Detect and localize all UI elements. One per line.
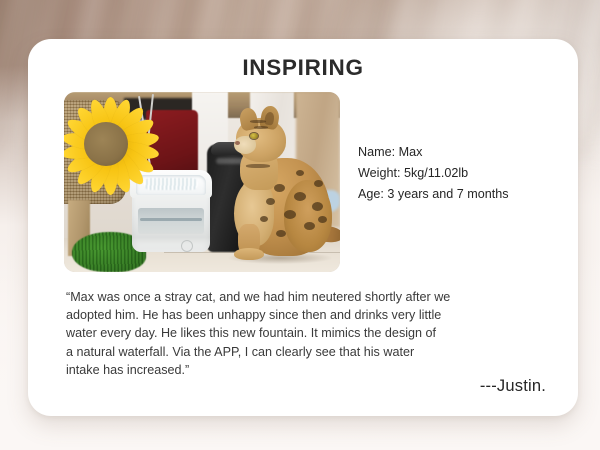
cat-forehead-stripe — [250, 120, 266, 123]
testimonial-signature: ---Justin. — [480, 377, 546, 396]
cat-rosette — [312, 202, 323, 211]
testimonial-line: water every day. He likes this new fount… — [66, 324, 544, 342]
photo-bengal-cat — [214, 106, 340, 260]
cat-neck-stripe — [246, 164, 270, 168]
testimonial-text: “Max was once a stray cat, and we had hi… — [66, 288, 544, 379]
cat-rosette — [260, 216, 268, 222]
testimonial-line: adopted him. He has been unhappy since t… — [66, 306, 544, 324]
cat-front-paw — [234, 248, 264, 260]
page-root: INSPIRING — [0, 0, 600, 450]
testimonial-line: a natural waterfall. Via the APP, I can … — [66, 343, 544, 361]
cat-rosette — [274, 184, 285, 192]
photo-fountain-water-window — [138, 208, 204, 234]
cat-rosette — [284, 210, 296, 219]
pet-photo — [64, 92, 340, 272]
cat-rosette — [304, 222, 315, 230]
cat-rosette — [296, 170, 304, 176]
cat-rosette — [314, 180, 323, 187]
photo-fountain-power-button — [181, 240, 193, 252]
cat-rosette — [294, 192, 306, 201]
photo-sunflower-center — [84, 122, 128, 166]
pet-info-block: Name: Max Weight: 5kg/11.02lb Age: 3 yea… — [358, 142, 558, 205]
page-title: INSPIRING — [28, 55, 578, 81]
cat-rosette — [266, 198, 275, 205]
pet-name-line: Name: Max — [358, 142, 558, 163]
photo-fountain-water-level — [140, 218, 202, 221]
testimonial-line: “Max was once a stray cat, and we had hi… — [66, 288, 544, 306]
pet-age-line: Age: 3 years and 7 months — [358, 184, 558, 205]
testimonial-line: intake has increased.” — [66, 361, 544, 379]
testimonial-card: INSPIRING — [28, 39, 578, 416]
cat-nose — [235, 141, 240, 145]
cat-forehead-stripe — [254, 126, 268, 129]
pet-weight-line: Weight: 5kg/11.02lb — [358, 163, 558, 184]
cat-eye — [250, 133, 258, 139]
cat-rosette — [276, 230, 286, 237]
cat-rosette — [318, 216, 327, 223]
